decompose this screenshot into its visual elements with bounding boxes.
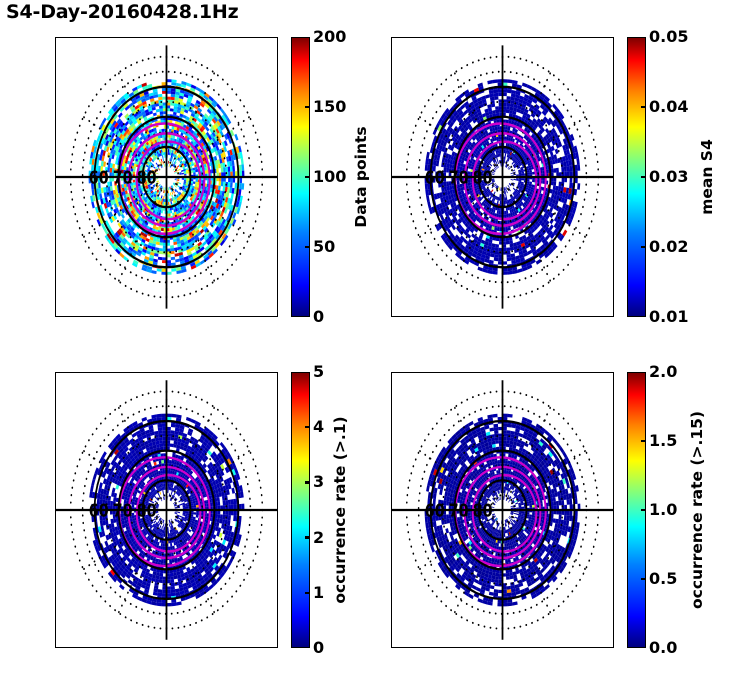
colorbar-label-occurrence-rate-015: occurrence rate (>.15) <box>688 411 706 609</box>
colorbar-tick-mark <box>641 176 646 178</box>
colorbar-tick-mark <box>641 246 646 248</box>
colorbar-label-data-points: Data points <box>352 126 370 227</box>
colorbar-tick-mark <box>305 176 310 178</box>
colorbar-tick-label: 5 <box>313 364 324 380</box>
svg-text:80: 80 <box>473 500 493 521</box>
center-crosshair <box>391 380 614 639</box>
colorbar-label-mean-s4: mean S4 <box>698 139 716 215</box>
svg-text:80: 80 <box>137 167 157 188</box>
colorbar-ticks-mean-s4: 0.010.020.030.040.05 <box>646 37 647 317</box>
svg-text:70: 70 <box>449 500 469 521</box>
svg-text:80: 80 <box>137 500 157 521</box>
svg-text:70: 70 <box>449 167 469 188</box>
colorbar-tick-label: 0.05 <box>649 29 688 45</box>
latitude-tick-labels: 607080 <box>89 167 157 188</box>
polar-plot-data-points: 607080 <box>55 37 278 317</box>
colorbar-tick-label: 2.0 <box>649 364 677 380</box>
colorbar-tick-label: 100 <box>313 169 346 185</box>
colorbar-tick-label: 0.5 <box>649 571 677 587</box>
colorbar-tick-label: 0 <box>313 309 324 325</box>
colorbar-tick-label: 0.01 <box>649 309 688 325</box>
colorbar-label-occurrence-rate-01: occurrence rate (>.1) <box>331 416 349 603</box>
center-crosshair <box>55 380 278 639</box>
figure-canvas: S4-Day-20160428.1Hz 607080050100150200Da… <box>0 0 731 674</box>
center-crosshair <box>391 45 614 308</box>
colorbar-tick-label: 0.04 <box>649 99 688 115</box>
svg-text:60: 60 <box>425 167 445 188</box>
colorbar-ticks-occurrence-rate-015: 0.00.51.01.52.0 <box>646 372 647 648</box>
colorbar-tick-mark <box>305 481 310 483</box>
svg-text:60: 60 <box>89 167 109 188</box>
svg-text:60: 60 <box>425 500 445 521</box>
colorbar-tick-mark <box>641 578 646 580</box>
colorbar-tick-mark <box>305 592 310 594</box>
colorbar-tick-label: 4 <box>313 419 324 435</box>
colorbar-ticks-data-points: 050100150200 <box>310 37 311 317</box>
colorbar-tick-mark <box>641 106 646 108</box>
colorbar-tick-label: 0.03 <box>649 169 688 185</box>
polar-plot-occurrence-rate-01: 607080 <box>55 372 278 648</box>
colorbar-tick-label: 2 <box>313 530 324 546</box>
colorbar-tick-mark <box>305 106 310 108</box>
colorbar-tick-mark <box>305 246 310 248</box>
colorbar-tick-label: 1.5 <box>649 433 677 449</box>
center-crosshair <box>55 45 278 308</box>
colorbar-tick-label: 0.0 <box>649 640 677 656</box>
colorbar-tick-label: 200 <box>313 29 346 45</box>
svg-text:60: 60 <box>89 500 109 521</box>
colorbar-occurrence-rate-01 <box>291 372 310 648</box>
colorbar-tick-mark <box>641 509 646 511</box>
latitude-tick-labels: 607080 <box>425 500 493 521</box>
polar-plot-occurrence-rate-015: 607080 <box>391 372 614 648</box>
colorbar-tick-label: 50 <box>313 239 335 255</box>
latitude-tick-labels: 607080 <box>425 167 493 188</box>
figure-title: S4-Day-20160428.1Hz <box>6 1 238 23</box>
polar-plot-mean-s4: 607080 <box>391 37 614 317</box>
latitude-tick-labels: 607080 <box>89 500 157 521</box>
svg-text:80: 80 <box>473 167 493 188</box>
colorbar-tick-label: 3 <box>313 474 324 490</box>
colorbar-tick-label: 150 <box>313 99 346 115</box>
colorbar-tick-label: 0 <box>313 640 324 656</box>
svg-text:70: 70 <box>113 167 133 188</box>
colorbar-tick-label: 1 <box>313 585 324 601</box>
colorbar-tick-mark <box>305 536 310 538</box>
colorbar-tick-label: 0.02 <box>649 239 688 255</box>
colorbar-tick-mark <box>305 426 310 428</box>
colorbar-tick-label: 1.0 <box>649 502 677 518</box>
colorbar-ticks-occurrence-rate-01: 012345 <box>310 372 311 648</box>
svg-text:70: 70 <box>113 500 133 521</box>
colorbar-tick-mark <box>641 440 646 442</box>
